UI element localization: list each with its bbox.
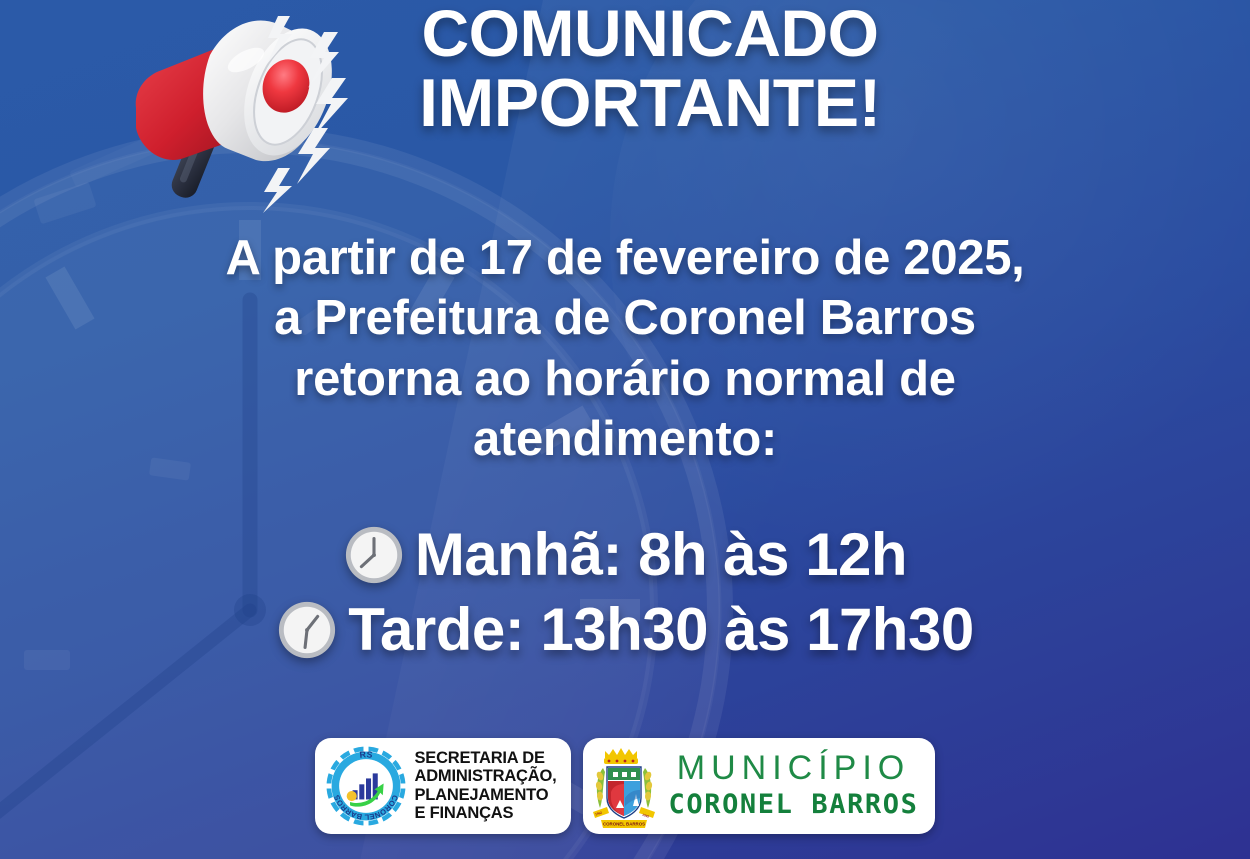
secretaria-line-3: PLANEJAMENTO: [414, 786, 556, 804]
coat-of-arms-icon: 1962 1992 CORONEL BARROS: [591, 742, 657, 830]
municipio-line-1: MUNICÍPIO: [669, 751, 919, 787]
schedule-label-morning: Manhã: 8h às 12h: [415, 520, 907, 589]
poster-canvas: COMUNICADO IMPORTANTE! A partir de 17 de…: [0, 0, 1250, 859]
schedule-label-afternoon: Tarde: 13h30 às 17h30: [348, 595, 973, 664]
svg-text:1992: 1992: [641, 812, 649, 818]
body-line-3: retorna ao horário normal de: [0, 349, 1250, 409]
municipio-logo-card: 1962 1992 CORONEL BARROS MUNICÍPIO CORON…: [583, 738, 935, 834]
clock-one-thirty-icon: [276, 599, 338, 661]
municipio-line-2: CORONEL BARROS: [669, 790, 919, 820]
secretaria-logo-card: RS CORONEL BARROS: [315, 738, 570, 834]
secretaria-line-4: E FINANÇAS: [414, 804, 556, 822]
poster-header: COMUNICADO IMPORTANTE!: [0, 0, 1250, 195]
body-line-2: a Prefeitura de Coronel Barros: [0, 288, 1250, 348]
municipio-logo-text: MUNICÍPIO CORONEL BARROS: [669, 751, 919, 819]
schedule-row-morning: Manhã: 8h às 12h: [0, 520, 1250, 589]
secretaria-line-2: ADMINISTRAÇÃO,: [414, 767, 556, 785]
coat-ribbon-label: CORONEL BARROS: [602, 821, 644, 826]
page-title: COMUNICADO IMPORTANTE!: [330, 2, 970, 136]
title-line-1: COMUNICADO: [330, 2, 970, 64]
body-line-4: atendimento:: [0, 409, 1250, 469]
gear-emblem-icon: RS CORONEL BARROS: [324, 744, 408, 828]
secretaria-logo-text: SECRETARIA DE ADMINISTRAÇÃO, PLANEJAMENT…: [414, 749, 556, 822]
title-line-2: IMPORTANTE!: [330, 72, 970, 136]
secretaria-line-1: SECRETARIA DE: [414, 749, 556, 767]
clock-eight-oclock-icon: [343, 524, 405, 586]
logo-bar: RS CORONEL BARROS: [0, 728, 1250, 843]
announcement-body: A partir de 17 de fevereiro de 2025, a P…: [0, 228, 1250, 469]
schedule-row-afternoon: Tarde: 13h30 às 17h30: [0, 595, 1250, 664]
body-line-1: A partir de 17 de fevereiro de 2025,: [0, 228, 1250, 288]
schedule-list: Manhã: 8h às 12h Tarde: 13h30 às 17h30: [0, 520, 1250, 670]
